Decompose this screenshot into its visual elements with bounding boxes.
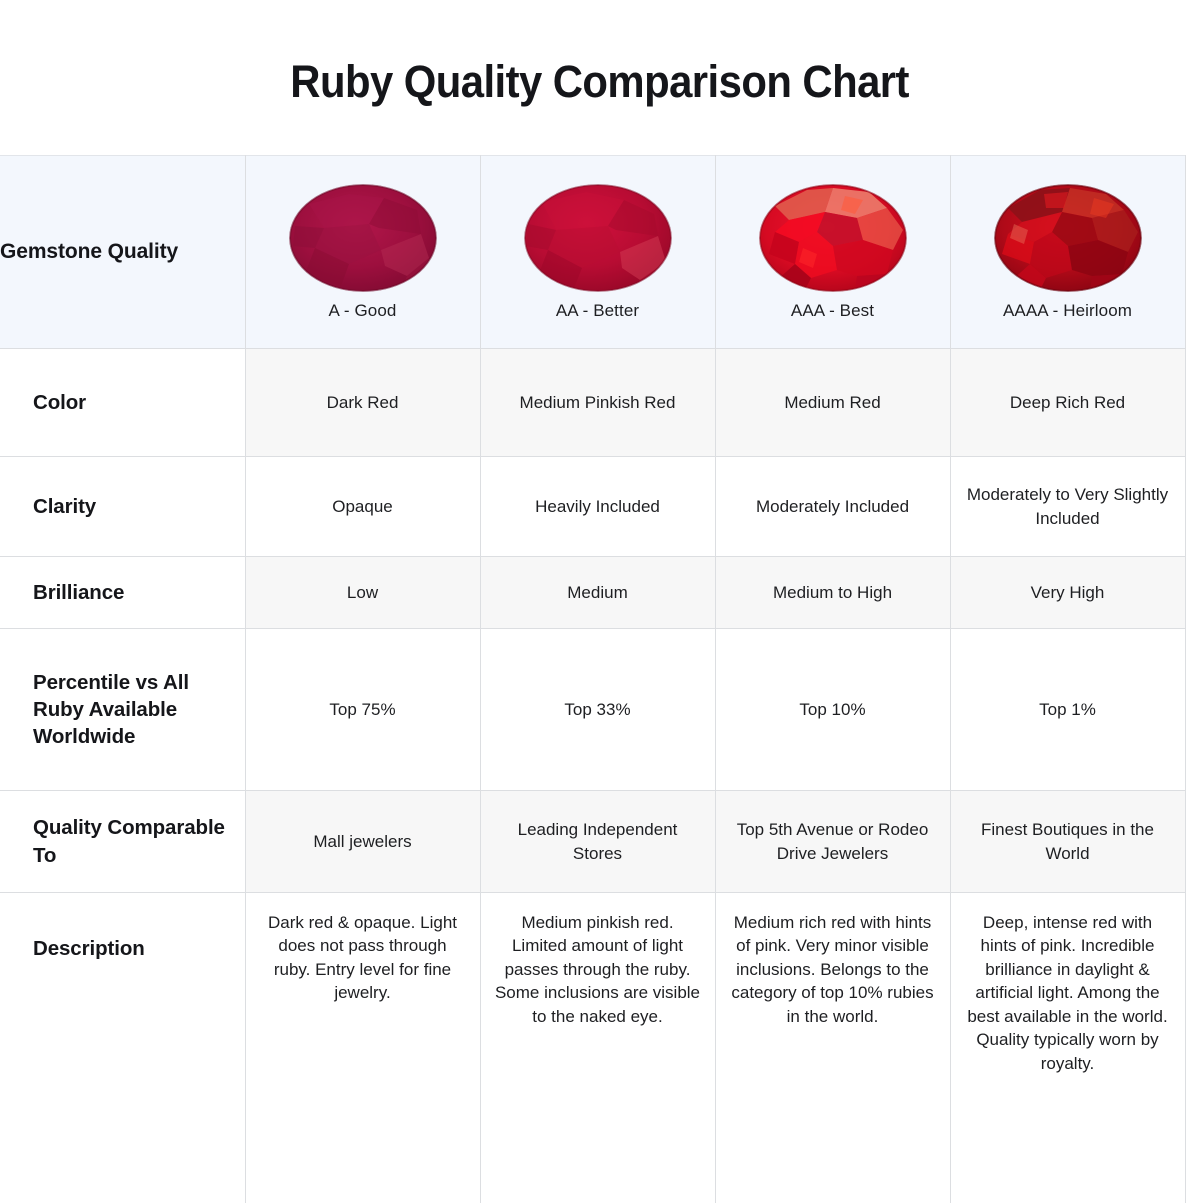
table-cell-gem-aaaa: AAAA - Heirloom bbox=[950, 156, 1185, 349]
cell-percentile-aaa: Top 10% bbox=[715, 629, 950, 791]
cell-comparable-aaa: Top 5th Avenue or Rodeo Drive Jewelers bbox=[715, 791, 950, 893]
table-row-color: Color Dark Red Medium Pinkish Red Medium… bbox=[0, 349, 1185, 457]
table-row-quality-comparable-to: Quality Comparable To Mall jewelers Lead… bbox=[0, 791, 1185, 893]
gem-label-a: A - Good bbox=[329, 301, 397, 321]
table-row-description: Description Dark red & opaque. Light doe… bbox=[0, 893, 1185, 1203]
page-title: Ruby Quality Comparison Chart bbox=[291, 56, 910, 108]
title-bar: Ruby Quality Comparison Chart bbox=[0, 0, 1200, 155]
table-cell-gem-a: A - Good bbox=[245, 156, 480, 349]
table-cell-gem-aa: AA - Better bbox=[480, 156, 715, 349]
cell-brilliance-a: Low bbox=[245, 557, 480, 629]
ruby-gem-aaa-icon bbox=[759, 184, 907, 292]
table-row-clarity: Clarity Opaque Heavily Included Moderate… bbox=[0, 457, 1185, 557]
cell-clarity-aaa: Moderately Included bbox=[715, 457, 950, 557]
row-label-color: Color bbox=[0, 349, 245, 457]
table-cell-gem-aaa: AAA - Best bbox=[715, 156, 950, 349]
ruby-gem-a-icon bbox=[289, 184, 437, 292]
ruby-quality-table: Gemstone Quality bbox=[0, 155, 1186, 1203]
cell-percentile-aaaa: Top 1% bbox=[950, 629, 1185, 791]
cell-clarity-aaaa: Moderately to Very Slightly Included bbox=[950, 457, 1185, 557]
cell-description-aaaa: Deep, intense red with hints of pink. In… bbox=[950, 893, 1185, 1203]
cell-color-a: Dark Red bbox=[245, 349, 480, 457]
gem-label-aa: AA - Better bbox=[556, 301, 639, 321]
cell-description-aaa: Medium rich red with hints of pink. Very… bbox=[715, 893, 950, 1203]
gem-label-aaaa: AAAA - Heirloom bbox=[1003, 301, 1132, 321]
row-label-percentile: Percentile vs All Ruby Available Worldwi… bbox=[0, 629, 245, 791]
comparison-chart-page: Ruby Quality Comparison Chart Gemstone Q… bbox=[0, 0, 1200, 1200]
cell-description-a: Dark red & opaque. Light does not pass t… bbox=[245, 893, 480, 1203]
cell-comparable-aaaa: Finest Boutiques in the World bbox=[950, 791, 1185, 893]
cell-percentile-a: Top 75% bbox=[245, 629, 480, 791]
ruby-gem-aa-icon bbox=[524, 184, 672, 292]
gem-label-aaa: AAA - Best bbox=[791, 301, 874, 321]
cell-clarity-a: Opaque bbox=[245, 457, 480, 557]
table-row-percentile: Percentile vs All Ruby Available Worldwi… bbox=[0, 629, 1185, 791]
cell-percentile-aa: Top 33% bbox=[480, 629, 715, 791]
cell-color-aaa: Medium Red bbox=[715, 349, 950, 457]
cell-brilliance-aa: Medium bbox=[480, 557, 715, 629]
cell-comparable-aa: Leading Independent Stores bbox=[480, 791, 715, 893]
table-row-gemstone-quality: Gemstone Quality bbox=[0, 156, 1185, 349]
ruby-gem-aaaa-icon bbox=[994, 184, 1142, 292]
row-label-clarity: Clarity bbox=[0, 457, 245, 557]
cell-description-aa: Medium pinkish red. Limited amount of li… bbox=[480, 893, 715, 1203]
row-label-quality-comparable-to: Quality Comparable To bbox=[0, 791, 245, 893]
cell-brilliance-aaa: Medium to High bbox=[715, 557, 950, 629]
row-label-gemstone-quality: Gemstone Quality bbox=[0, 156, 245, 349]
row-label-brilliance: Brilliance bbox=[0, 557, 245, 629]
cell-comparable-a: Mall jewelers bbox=[245, 791, 480, 893]
cell-color-aa: Medium Pinkish Red bbox=[480, 349, 715, 457]
row-label-description: Description bbox=[0, 893, 245, 1203]
cell-brilliance-aaaa: Very High bbox=[950, 557, 1185, 629]
cell-clarity-aa: Heavily Included bbox=[480, 457, 715, 557]
cell-color-aaaa: Deep Rich Red bbox=[950, 349, 1185, 457]
table-row-brilliance: Brilliance Low Medium Medium to High Ver… bbox=[0, 557, 1185, 629]
